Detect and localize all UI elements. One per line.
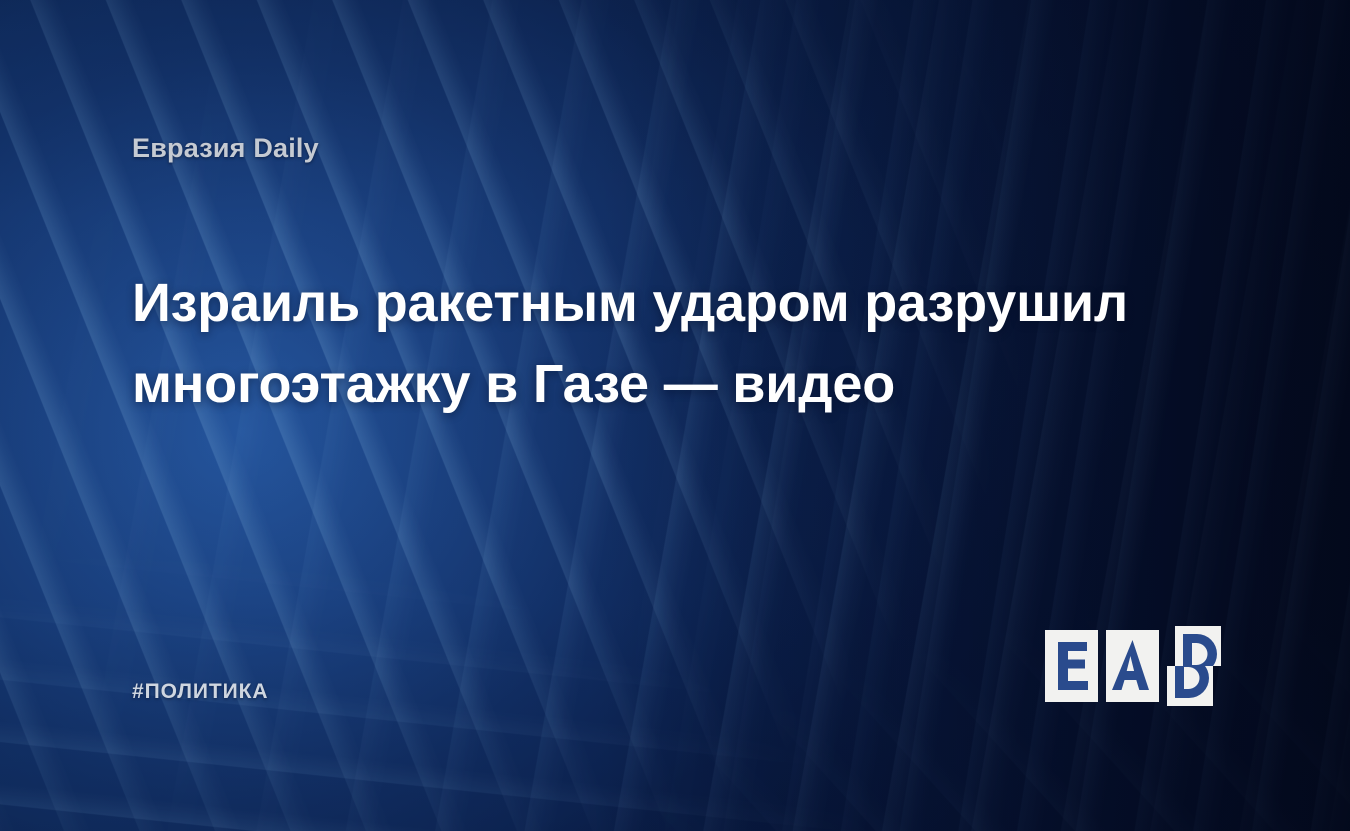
news-card: Евразия Daily Израиль ракетным ударом ра…: [0, 0, 1350, 831]
logo-tile-e: [1045, 630, 1098, 702]
hashtag-politics: #ПОЛИТИКА: [132, 680, 268, 704]
eadaily-logo: [1045, 626, 1221, 706]
brand-name: Евразия Daily: [132, 133, 319, 164]
card-content: Евразия Daily Израиль ракетным ударом ра…: [0, 0, 1350, 831]
logo-tile-a: [1106, 630, 1159, 702]
logo-tile-d-split: [1167, 626, 1221, 706]
headline-text: Израиль ракетным ударом разрушил многоэт…: [132, 263, 1192, 425]
